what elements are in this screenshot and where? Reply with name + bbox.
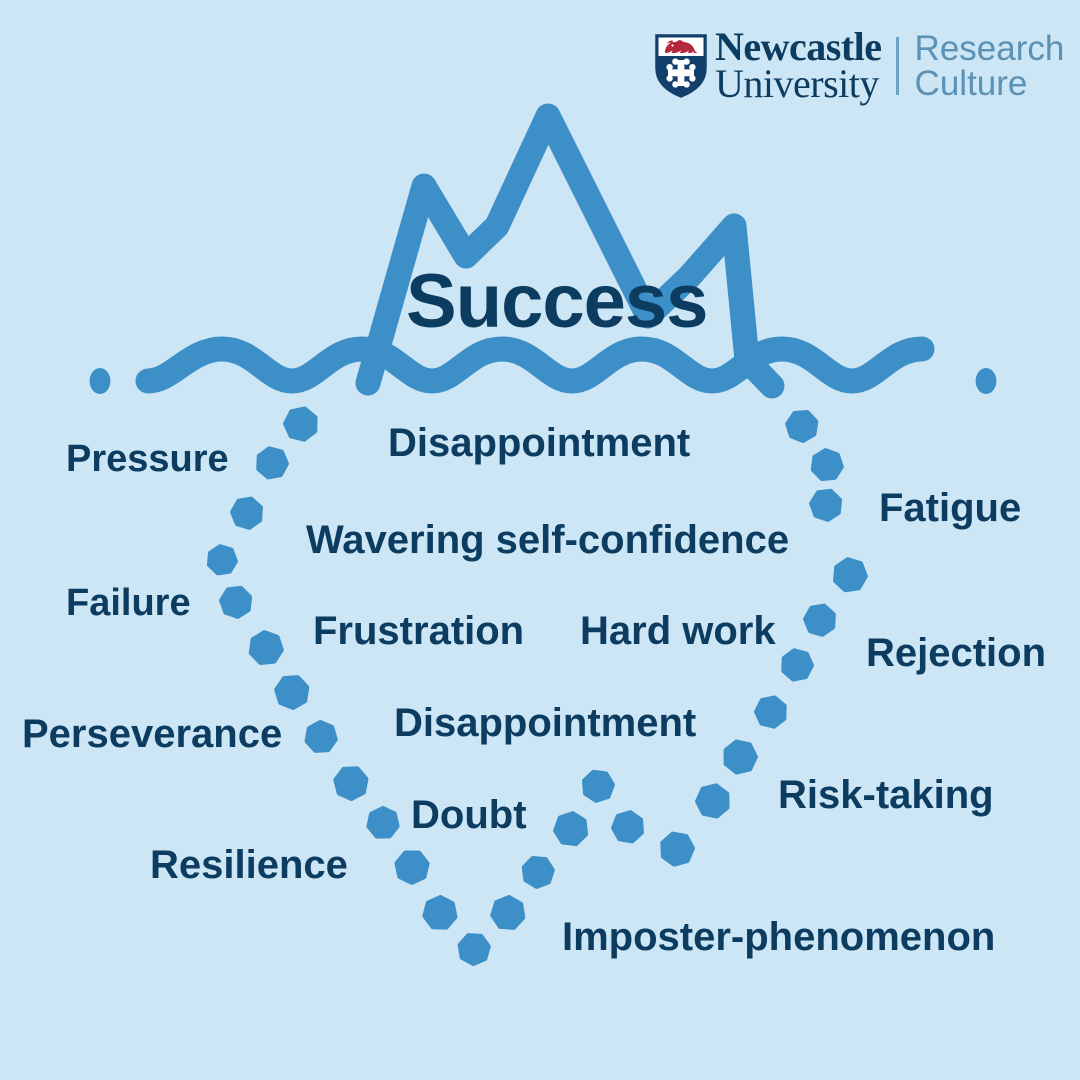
iceberg-outline-dot — [209, 546, 236, 573]
iceberg-outline-dot — [813, 450, 842, 479]
iceberg-outline-dot — [805, 606, 834, 635]
iceberg-outline-dot — [726, 741, 756, 772]
below-water-label: Pressure — [66, 440, 229, 478]
below-water-label: Risk-taking — [778, 775, 994, 815]
below-water-label: Failure — [66, 584, 191, 622]
iceberg-outline-dot — [555, 813, 586, 844]
below-water-label: Resilience — [150, 845, 348, 885]
below-water-label: Perseverance — [22, 714, 282, 754]
success-label: Success — [406, 264, 707, 340]
iceberg-outline-dot — [492, 897, 523, 928]
iceberg-outline-dot — [787, 412, 816, 441]
iceberg-outline-dot — [524, 858, 553, 887]
iceberg-outline-dot — [258, 448, 287, 477]
below-water-label: Rejection — [866, 633, 1046, 673]
iceberg-outline-dot — [232, 499, 261, 528]
iceberg-outline-dot — [221, 588, 250, 617]
iceberg-outline-dot — [460, 935, 489, 964]
iceberg-outline-dot — [307, 722, 336, 751]
iceberg-infographic: Newcastle University Research Culture Su… — [0, 0, 1080, 1080]
iceberg-outline-dot — [756, 697, 785, 726]
iceberg-outline-dot — [835, 559, 866, 590]
below-water-label: Wavering self-confidence — [306, 520, 789, 560]
iceberg-outline-dot — [285, 408, 316, 439]
below-water-label: Imposter-phenomenon — [562, 917, 995, 957]
iceberg-outline-dot — [251, 632, 282, 663]
iceberg-outline-dot — [697, 785, 728, 816]
iceberg-outline-dot — [424, 897, 455, 928]
iceberg-outline-dot — [396, 853, 427, 883]
iceberg-outline-dot — [613, 812, 642, 841]
iceberg-outline-dot — [783, 650, 812, 679]
wavy-waterline-icon — [148, 349, 922, 381]
iceberg-outline-dot — [811, 491, 840, 520]
below-water-label: Fatigue — [879, 488, 1021, 528]
below-water-label: Doubt — [411, 795, 527, 835]
below-water-label: Frustration — [313, 611, 524, 651]
iceberg-outline-dot — [335, 768, 366, 799]
below-water-label: Hard work — [580, 611, 776, 651]
iceberg-peak-icon — [368, 116, 772, 386]
iceberg-outline-dot — [368, 808, 397, 837]
below-water-label: Disappointment — [394, 703, 696, 743]
iceberg-outline-dot — [976, 368, 997, 394]
iceberg-outline-dot — [90, 368, 111, 394]
iceberg-outline-dot — [662, 834, 693, 865]
iceberg-outline-dot — [584, 772, 613, 801]
iceberg-outline-dot — [276, 677, 307, 708]
below-water-label: Disappointment — [388, 423, 690, 463]
